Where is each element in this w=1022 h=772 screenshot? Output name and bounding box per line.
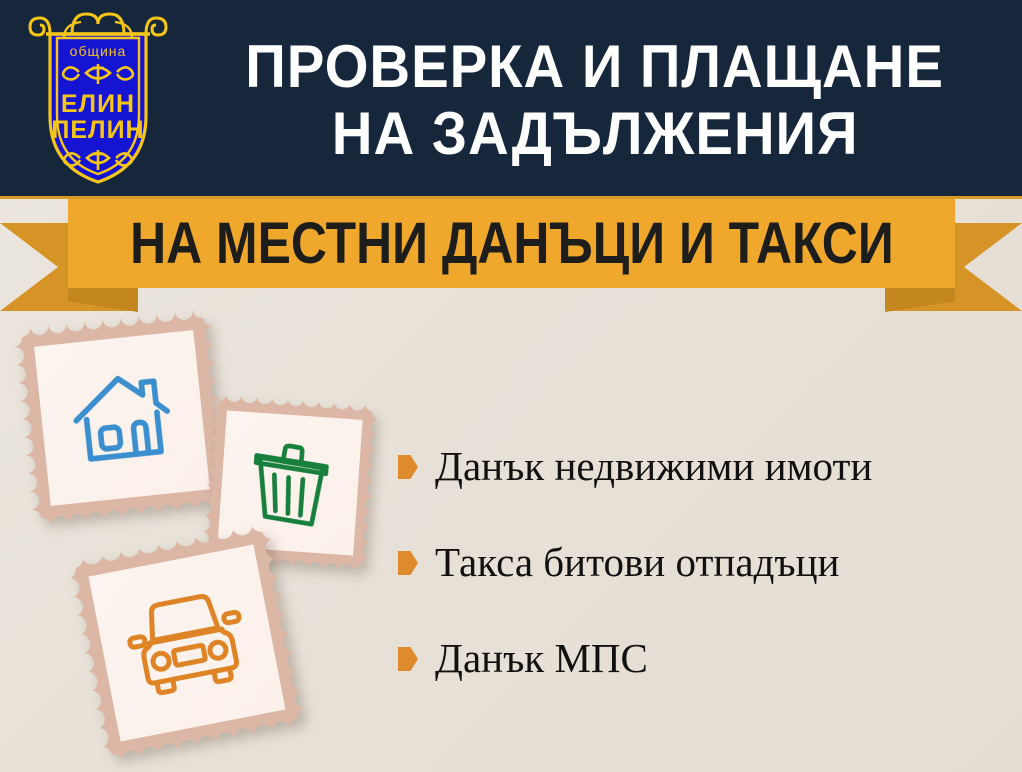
header-banner: община ЕЛИН ПЕЛИН xyxy=(0,0,1022,199)
poster-title: ПРОВЕРКА И ПЛАЩАНЕ НА ЗАДЪЛЖЕНИЯ xyxy=(180,20,1010,180)
services-list: Данък недвижими имоти Такса битови отпад… xyxy=(398,418,1018,706)
svg-text:ЕЛИН: ЕЛИН xyxy=(61,90,135,118)
arrow-bullet-icon xyxy=(398,647,418,671)
title-line-1: ПРОВЕРКА И ПЛАЩАНЕ xyxy=(246,36,945,97)
list-item[interactable]: Данък недвижими имоти xyxy=(398,418,1018,514)
ribbon-band: НА МЕСТНИ ДАНЪЦИ И ТАКСИ xyxy=(68,199,955,288)
svg-text:община: община xyxy=(70,43,127,59)
trash-can-icon xyxy=(245,435,335,531)
arrow-bullet-icon xyxy=(398,455,418,479)
list-item-label: Данък недвижими имоти xyxy=(435,446,872,487)
title-line-2: НА ЗАДЪЛЖЕНИЯ xyxy=(332,103,859,164)
house-icon xyxy=(65,361,179,475)
stamp-property-tax xyxy=(12,308,232,528)
list-item-label: Такса битови отпадъци xyxy=(435,542,839,583)
svg-text:ПЕЛИН: ПЕЛИН xyxy=(51,116,144,144)
arrow-bullet-icon xyxy=(398,551,418,575)
list-item[interactable]: Данък МПС xyxy=(398,610,1018,706)
list-item-label: Данък МПС xyxy=(435,638,648,679)
stamp-collage xyxy=(0,300,400,770)
ribbon-label: НА МЕСТНИ ДАНЪЦИ И ТАКСИ xyxy=(130,215,894,273)
municipality-logo: община ЕЛИН ПЕЛИН xyxy=(24,8,172,188)
list-item[interactable]: Такса битови отпадъци xyxy=(398,514,1018,610)
stamp-vehicle-tax xyxy=(64,520,310,766)
poster-canvas: община ЕЛИН ПЕЛИН xyxy=(0,0,1022,772)
